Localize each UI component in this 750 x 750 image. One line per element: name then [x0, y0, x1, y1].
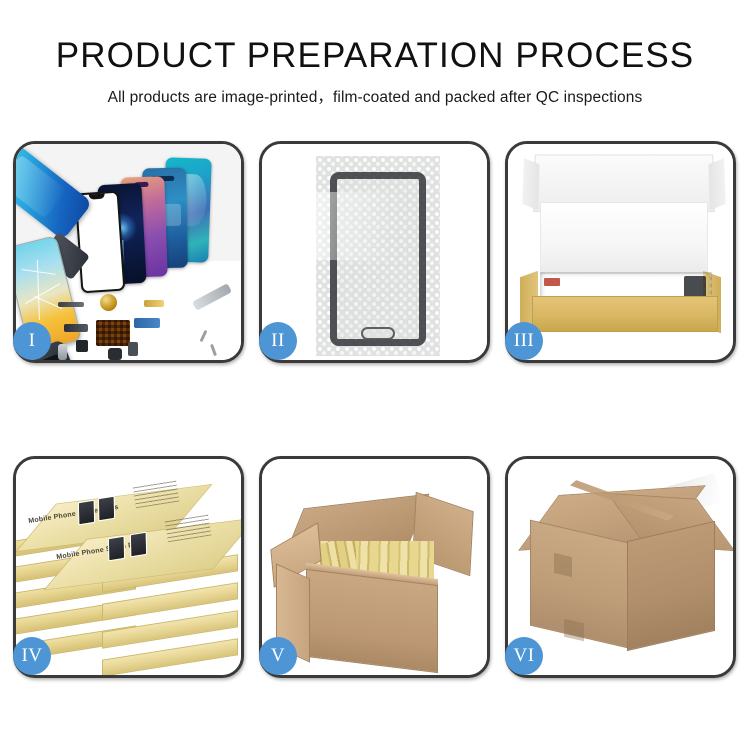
phone-lineup-scene — [16, 144, 241, 360]
process-step-panel-6: VI — [505, 456, 736, 678]
home-button-icon — [361, 327, 395, 340]
crack-line — [37, 260, 40, 320]
repair-tool-icon — [192, 283, 232, 311]
page-subtitle: All products are image-printed，film-coat… — [0, 85, 750, 107]
product-preparation-page: PRODUCT PREPARATION PROCESS All products… — [0, 0, 750, 750]
step-6-illustration — [508, 459, 733, 675]
small-component-icon — [128, 342, 138, 356]
flex-cable-icon — [64, 324, 88, 332]
step-2-illustration — [262, 144, 487, 360]
flex-cable-icon — [134, 318, 160, 328]
box-artwork-thumb — [108, 536, 125, 562]
carton-front-right-face — [627, 521, 715, 651]
small-component-icon — [108, 348, 122, 360]
crack-line — [22, 269, 56, 275]
process-step-panel-3: III — [505, 141, 736, 363]
sealed-carton-scene — [508, 459, 733, 675]
stacked-boxes-scene: Mobile Phone Spare Parts Mobile Phone Sp… — [16, 459, 241, 675]
process-steps-grid: I II III — [13, 141, 737, 681]
process-step-panel-1: I — [13, 141, 244, 363]
power-button-icon — [58, 344, 67, 360]
screw-icon — [200, 330, 208, 342]
step-badge-5: V — [259, 637, 297, 675]
step-badge-1: I — [13, 322, 51, 360]
wrapped-phone-screen-icon — [330, 172, 426, 346]
page-header: PRODUCT PREPARATION PROCESS All products… — [0, 34, 750, 107]
foam-insert-icon — [540, 202, 708, 274]
open-carton-scene — [262, 459, 487, 675]
earpiece-speaker-icon — [58, 302, 84, 307]
screw-icon — [210, 344, 217, 356]
step-4-illustration: Mobile Phone Spare Parts Mobile Phone Sp… — [16, 459, 241, 675]
bubble-wrap-sheet — [316, 156, 440, 356]
box-artwork-thumb — [130, 532, 147, 558]
box-artwork-thumb — [98, 496, 115, 522]
kraft-box-front-icon — [532, 296, 718, 332]
flex-cable-icon — [144, 300, 164, 307]
process-step-panel-4: Mobile Phone Spare Parts Mobile Phone Sp… — [13, 456, 244, 678]
process-step-panel-5: V — [259, 456, 490, 678]
carton-flap-tab — [564, 619, 584, 642]
carton-flap-tab — [554, 553, 572, 577]
vibration-motor-icon — [100, 294, 117, 311]
carton-front-face — [306, 569, 438, 673]
page-title: PRODUCT PREPARATION PROCESS — [0, 34, 750, 78]
step-badge-3: III — [505, 322, 543, 360]
step-5-illustration — [262, 459, 487, 675]
step-3-illustration — [508, 144, 733, 360]
process-step-panel-2: II — [259, 141, 490, 363]
step-badge-6: VI — [505, 637, 543, 675]
step-1-illustration — [16, 144, 241, 360]
step-badge-2: II — [259, 322, 297, 360]
circuit-board-icon — [96, 320, 130, 346]
box-artwork-thumb — [78, 500, 95, 526]
step-badge-4: IV — [13, 637, 51, 675]
small-component-icon — [76, 340, 88, 352]
